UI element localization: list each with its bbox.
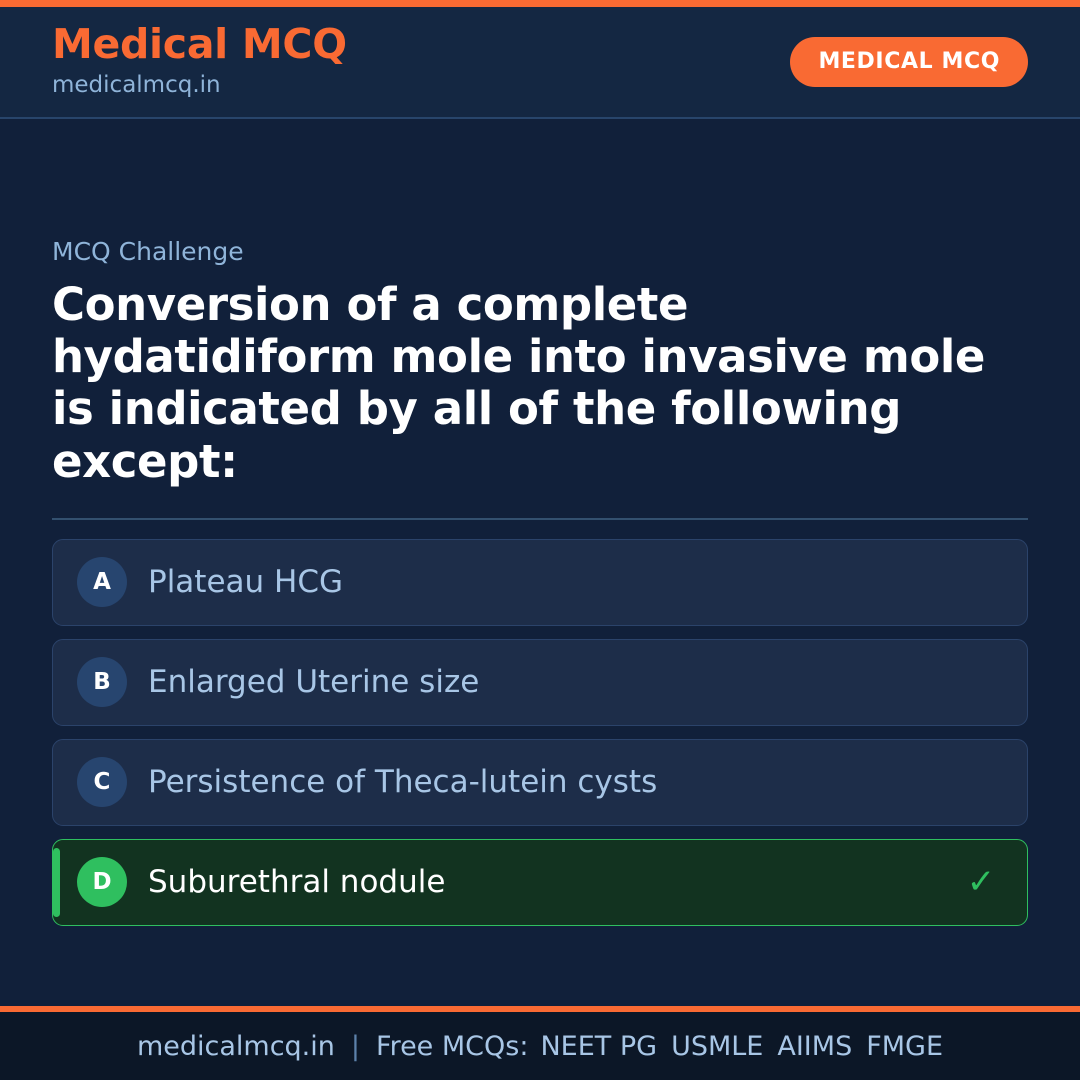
kicker-label: MCQ Challenge xyxy=(52,237,1028,267)
footer-exam-fmge: FMGE xyxy=(866,1031,943,1062)
question-divider xyxy=(52,518,1028,520)
option-b[interactable]: BEnlarged Uterine size✓ xyxy=(52,639,1028,726)
option-letter-badge: B xyxy=(77,657,127,707)
top-accent-bar xyxy=(0,0,1080,7)
option-letter-badge: D xyxy=(77,857,127,907)
option-d[interactable]: DSuburethral nodule✓ xyxy=(52,839,1028,926)
header-badge: MEDICAL MCQ xyxy=(790,37,1028,87)
brand-block: Medical MCQ medicalmcq.in xyxy=(52,23,347,101)
main-content: MCQ Challenge Conversion of a complete h… xyxy=(0,119,1080,1006)
footer-separator: | xyxy=(335,1031,376,1062)
option-letter-badge: C xyxy=(77,757,127,807)
options-list: APlateau HCG✓BEnlarged Uterine size✓CPer… xyxy=(52,539,1028,926)
footer-tagline: Free MCQs: xyxy=(376,1031,540,1062)
correct-check-icon: ✓ xyxy=(961,862,1001,902)
footer-exam-neet-pg: NEET PG xyxy=(540,1031,671,1062)
footer-exam-usmle: USMLE xyxy=(671,1031,777,1062)
question-text: Conversion of a complete hydatidiform mo… xyxy=(52,279,1012,488)
footer-site-url: medicalmcq.in xyxy=(137,1031,335,1062)
option-letter-badge: A xyxy=(77,557,127,607)
footer-exam-list: NEET PGUSMLEAIIMSFMGE xyxy=(540,1031,943,1062)
brand-site-url: medicalmcq.in xyxy=(52,69,347,101)
option-text: Plateau HCG xyxy=(148,563,961,602)
header: Medical MCQ medicalmcq.in MEDICAL MCQ xyxy=(0,7,1080,119)
footer: medicalmcq.in | Free MCQs: NEET PGUSMLEA… xyxy=(0,1012,1080,1080)
option-text: Suburethral nodule xyxy=(148,863,961,902)
option-text: Persistence of Theca-lutein cysts xyxy=(148,763,961,802)
option-a[interactable]: APlateau HCG✓ xyxy=(52,539,1028,626)
mcq-card: Medical MCQ medicalmcq.in MEDICAL MCQ MC… xyxy=(0,0,1080,1080)
footer-exam-aiims: AIIMS xyxy=(777,1031,866,1062)
option-text: Enlarged Uterine size xyxy=(148,663,961,702)
option-c[interactable]: CPersistence of Theca-lutein cysts✓ xyxy=(52,739,1028,826)
brand-title: Medical MCQ xyxy=(52,23,347,66)
